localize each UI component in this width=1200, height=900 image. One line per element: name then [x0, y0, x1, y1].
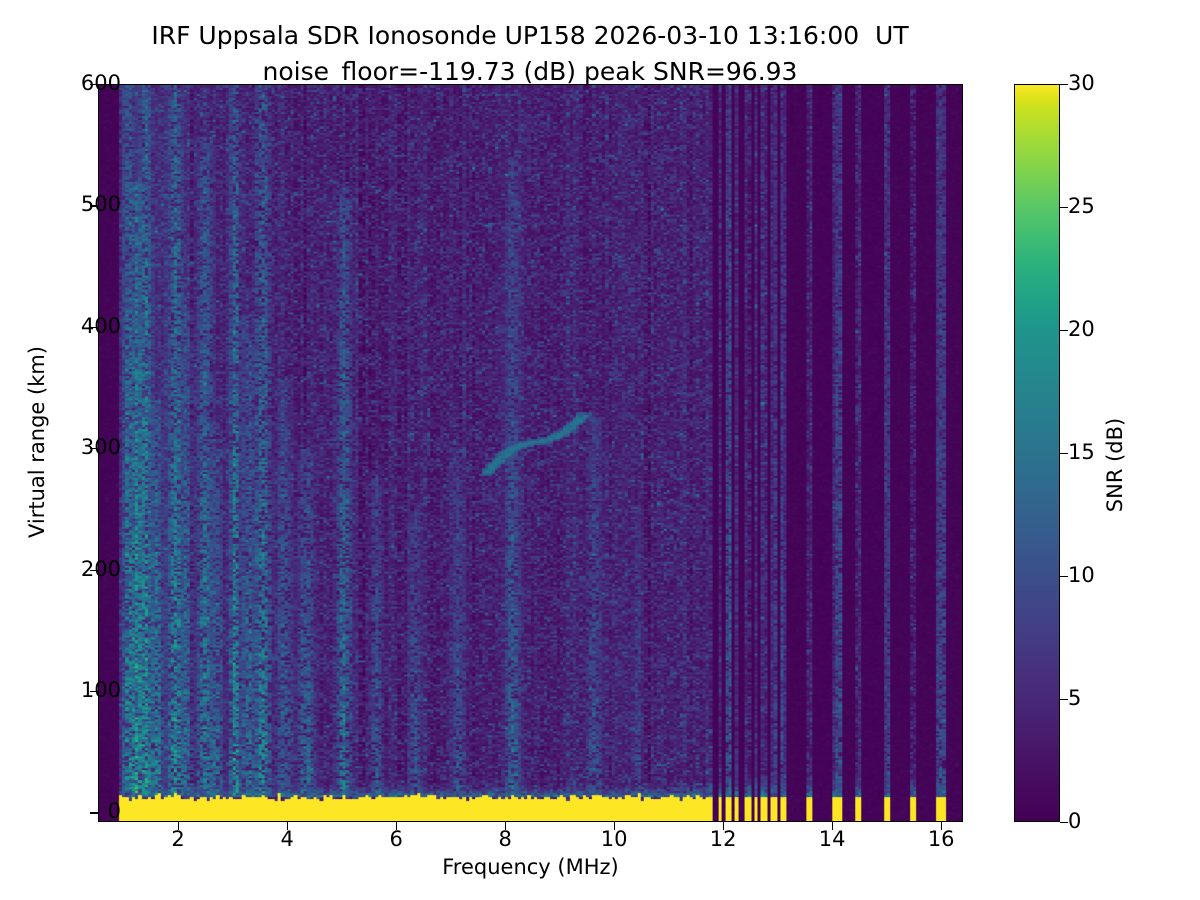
x-tick-mark — [178, 822, 179, 830]
x-tick-mark — [723, 822, 724, 830]
x-tick-label: 4 — [227, 829, 347, 850]
colorbar-tick-mark — [1060, 84, 1068, 85]
colorbar-tick-mark — [1060, 330, 1068, 331]
figure-title-line1: IRF Uppsala SDR Ionosonde UP158 2026-03-… — [0, 18, 1060, 54]
y-tick-label: 400 — [1, 316, 121, 337]
y-tick-label: 600 — [1, 73, 121, 94]
x-tick-label: 10 — [554, 829, 674, 850]
x-tick-label: 16 — [881, 829, 1001, 850]
y-tick-mark — [90, 691, 98, 692]
y-tick-mark — [90, 84, 98, 85]
y-tick-label: 100 — [1, 680, 121, 701]
colorbar-tick-mark — [1060, 207, 1068, 208]
colorbar-label: SNR (dB) — [1103, 205, 1127, 725]
colorbar-tick-mark — [1060, 576, 1068, 577]
y-tick-mark — [90, 205, 98, 206]
x-tick-mark — [505, 822, 506, 830]
y-tick-mark — [90, 570, 98, 571]
x-tick-mark — [941, 822, 942, 830]
colorbar-gradient — [1015, 85, 1059, 821]
colorbar-tick-label: 0 — [1068, 811, 1128, 832]
y-tick-label: 200 — [1, 559, 121, 580]
ionogram-plot-area[interactable] — [98, 84, 963, 822]
y-tick-label: 500 — [1, 194, 121, 215]
x-tick-label: 2 — [118, 829, 238, 850]
ionogram-heatmap — [99, 85, 962, 821]
x-axis-label: Frequency (MHz) — [98, 855, 963, 879]
x-tick-label: 8 — [445, 829, 565, 850]
x-tick-label: 14 — [772, 829, 892, 850]
x-tick-mark — [832, 822, 833, 830]
colorbar-tick-label: 30 — [1068, 73, 1128, 94]
y-tick-mark — [90, 812, 98, 813]
ionogram-figure: IRF Uppsala SDR Ionosonde UP158 2026-03-… — [0, 0, 1200, 900]
y-tick-mark — [90, 327, 98, 328]
y-tick-mark — [90, 448, 98, 449]
y-tick-label: 0 — [1, 801, 121, 822]
x-tick-label: 12 — [663, 829, 783, 850]
x-tick-mark — [287, 822, 288, 830]
x-tick-label: 6 — [336, 829, 456, 850]
colorbar-tick-mark — [1060, 453, 1068, 454]
colorbar-tick-mark — [1060, 822, 1068, 823]
colorbar-tick-mark — [1060, 699, 1068, 700]
y-tick-label: 300 — [1, 437, 121, 458]
x-tick-mark — [614, 822, 615, 830]
x-tick-mark — [396, 822, 397, 830]
colorbar[interactable] — [1014, 84, 1060, 822]
